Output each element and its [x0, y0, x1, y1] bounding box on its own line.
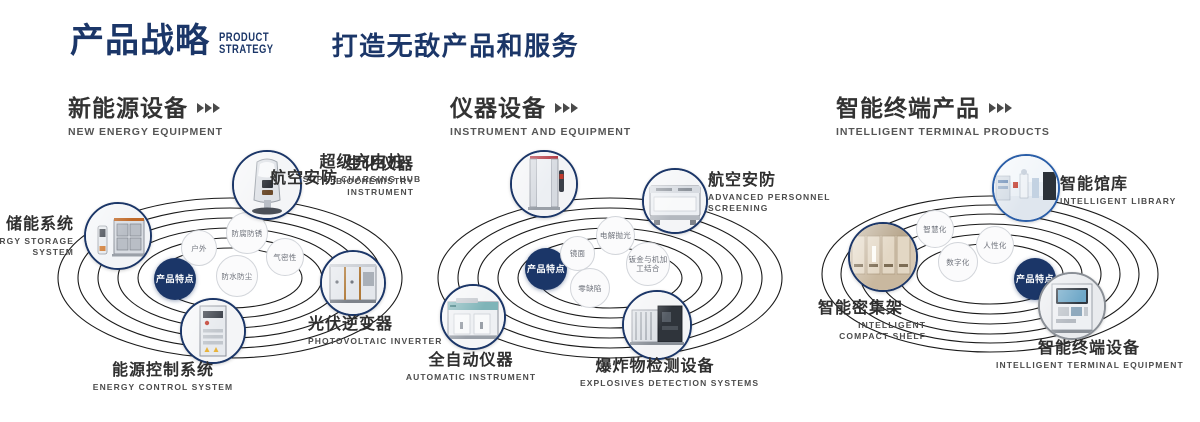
page-title-english-line2: STRATEGY [219, 45, 274, 57]
caption-intelligent-library: 智能馆库 INTELLIGENT LIBRARY [1060, 176, 1200, 207]
compact-shelf-icon [850, 224, 916, 290]
section-title-new-energy: 新能源设备 NEW ENERGY EQUIPMENT [68, 96, 223, 138]
security-gate-icon [512, 152, 576, 216]
feature-bubble: 零缺陷 [570, 268, 610, 308]
control-cabinet-icon [182, 300, 244, 362]
feature-bubble: 智慧化 [916, 210, 954, 248]
section-title-cn: 新能源设备 [68, 96, 188, 121]
feature-bubble: 人性化 [976, 226, 1014, 264]
inverter-cabinet-icon [322, 252, 384, 314]
node-energy-control-system[interactable] [180, 298, 246, 364]
feature-bubble: 气密性 [266, 238, 304, 276]
section-title-cn: 仪器设备 [450, 96, 546, 121]
chevrons-right-icon [555, 103, 578, 113]
caption-intelligent-compact-shelf: 智能密集架 INTELLIGENT COMPACT SHELF [818, 300, 968, 341]
detection-equipment-icon [624, 292, 690, 358]
feature-bubble: 户外 [181, 230, 217, 266]
node-advanced-personnel-screening[interactable] [642, 168, 708, 234]
node-photovoltaic-inverter[interactable] [320, 250, 386, 316]
energy-storage-cabinet-icon [86, 204, 150, 268]
chevrons-right-icon [197, 103, 220, 113]
caption-explosives-detection-systems: 爆炸物检测设备 EXPLOSIVES DETECTION SYSTEMS [580, 358, 730, 389]
chevrons-right-icon [989, 103, 1012, 113]
section-title-instrument: 仪器设备 INSTRUMENT AND EQUIPMENT [450, 96, 631, 138]
node-intelligent-library[interactable] [992, 154, 1060, 222]
caption-energy-control-system: 能源控制系统 ENERGY CONTROL SYSTEM [78, 362, 248, 393]
core-bubble: 产品特点 [154, 258, 196, 300]
cluster-intelligent-terminal-products: 产品特点 智慧化 数字化 人性化 [800, 150, 1200, 400]
node-biochemistry-instrument[interactable] [510, 150, 578, 218]
feature-bubble: 数字化 [938, 242, 978, 282]
section-title-intelligent-terminal: 智能终端产品 INTELLIGENT TERMINAL PRODUCTS [836, 96, 1050, 138]
caption-energy-storage-system: 储能系统 ENERGY STORAGE SYSTEM [0, 216, 74, 257]
feature-bubble: 电解抛光 [596, 216, 635, 255]
feature-bubble: 镜面 [560, 236, 595, 271]
screening-machine-icon [644, 170, 706, 232]
page-header: 产品战略 PRODUCT STRATEGY 打造无敌产品和服务 [70, 24, 579, 58]
page-title-english: PRODUCT STRATEGY [219, 33, 274, 56]
caption-automatic-instrument: 全自动仪器 AUTOMATIC INSTRUMENT [396, 352, 546, 383]
caption-aviation-security-left: 航空安防 [242, 170, 338, 188]
feature-bubble: 防水防尘 [216, 255, 258, 297]
caption-intelligent-terminal-equipment: 智能终端设备 INTELLIGENT TERMINAL EQUIPMENT [996, 340, 1182, 371]
node-explosives-detection-systems[interactable] [622, 290, 692, 360]
section-title-en: INSTRUMENT AND EQUIPMENT [450, 126, 631, 138]
cluster-instrument-and-equipment: 产品特点 镜面 电解抛光 零缺陷 钣金与机加工结合 [410, 150, 810, 400]
page-subtitle: 打造无敌产品和服务 [332, 33, 580, 59]
page-title-english-line1: PRODUCT [219, 33, 274, 45]
automatic-analyzer-icon [442, 286, 504, 348]
feature-bubble: 钣金与机加工结合 [626, 242, 670, 286]
self-service-kiosk-icon [1040, 274, 1104, 338]
section-title-en: INTELLIGENT TERMINAL PRODUCTS [836, 126, 1050, 138]
page-title: 产品战略 [70, 24, 210, 58]
node-automatic-instrument[interactable] [440, 284, 506, 350]
library-interior-icon [994, 156, 1058, 220]
node-intelligent-compact-shelf[interactable] [848, 222, 918, 292]
section-title-en: NEW ENERGY EQUIPMENT [68, 126, 223, 138]
product-strategy-infographic: 产品战略 PRODUCT STRATEGY 打造无敌产品和服务 新能源设备 NE… [0, 0, 1200, 422]
node-energy-storage-system[interactable] [84, 202, 152, 270]
node-intelligent-terminal-equipment[interactable] [1038, 272, 1106, 340]
section-title-cn: 智能终端产品 [836, 96, 980, 121]
